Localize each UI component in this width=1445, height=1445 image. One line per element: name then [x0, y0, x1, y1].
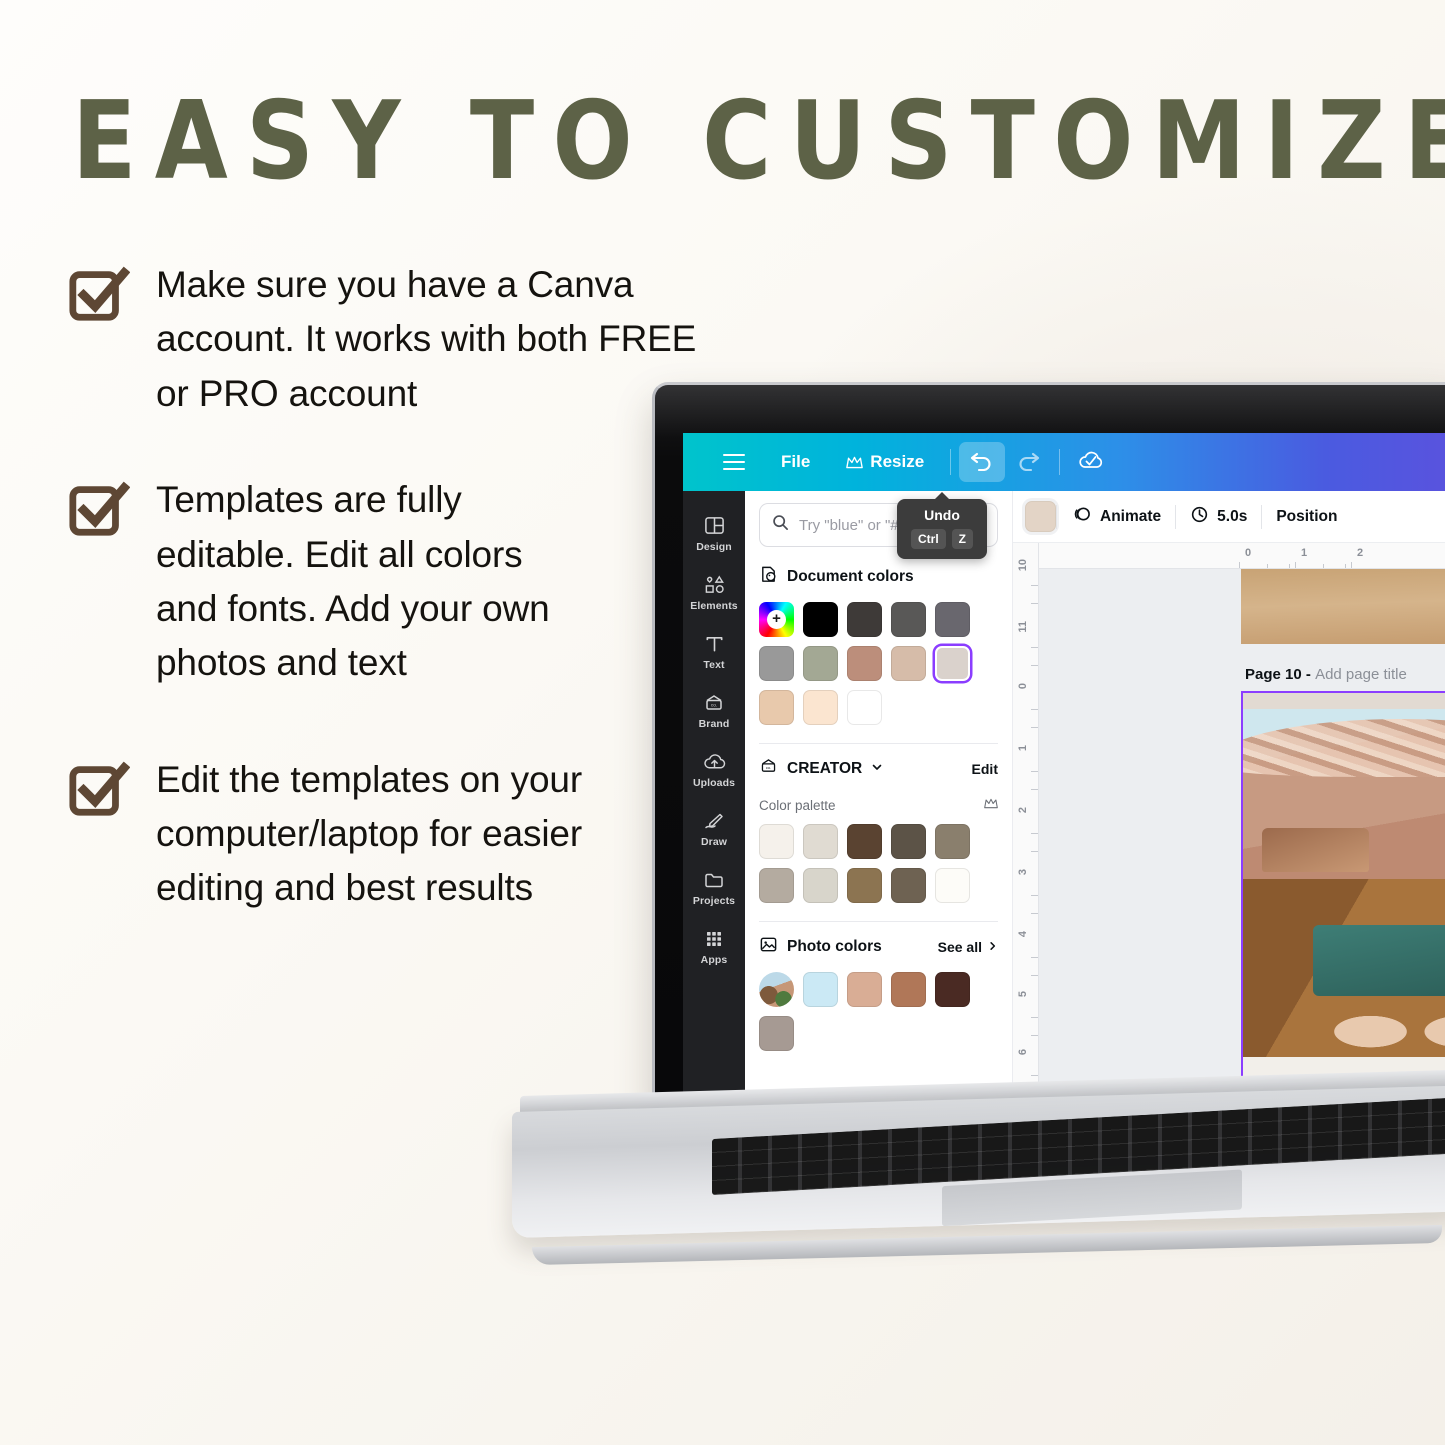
- canvas-page: Page 10 - Add page title: [1241, 569, 1445, 1093]
- page-title: EASY TO CUSTOMIZE: [72, 88, 1362, 196]
- toolbar-divider: [1059, 449, 1060, 475]
- layout-icon: [703, 514, 726, 537]
- plus-icon: +: [767, 610, 786, 629]
- crown-icon: [846, 456, 863, 469]
- page-canvas[interactable]: [1241, 691, 1445, 1093]
- sidebar-item-label: Draw: [701, 836, 727, 848]
- creator-title: CREATOR: [787, 760, 862, 778]
- color-swatch[interactable]: [803, 646, 838, 681]
- document-colors-header: Document colors: [759, 565, 998, 589]
- creator-edit-button[interactable]: Edit: [972, 761, 998, 777]
- horizontal-ruler[interactable]: 0 1 2: [1039, 543, 1445, 569]
- checkbox-checked-icon: [68, 264, 130, 326]
- sidebar-item-design[interactable]: Design: [683, 503, 745, 562]
- ruler-tick-label: 1: [1301, 547, 1307, 559]
- cloud-check-icon: [1078, 449, 1104, 476]
- selected-color-button[interactable]: [1025, 501, 1056, 532]
- add-color-button[interactable]: +: [759, 602, 794, 637]
- sidebar-item-label: Uploads: [693, 777, 735, 789]
- document-colors-title: Document colors: [787, 568, 914, 586]
- search-icon: [772, 514, 789, 536]
- color-swatch[interactable]: [803, 868, 838, 903]
- resize-label: Resize: [870, 452, 924, 472]
- photo-colors-see-all-button[interactable]: See all: [938, 939, 998, 955]
- chevron-down-icon[interactable]: [871, 760, 883, 778]
- shortcut-key: Z: [952, 529, 973, 549]
- hamburger-menu-icon: [723, 454, 745, 470]
- checkbox-checked-icon: [68, 759, 130, 821]
- laptop-base: [512, 1096, 1445, 1248]
- canvas-toolbar: Animate 5.0s Position: [1013, 491, 1445, 543]
- pencil-draw-icon: [703, 809, 726, 832]
- creator-header: co. CREATOR Edit: [759, 757, 998, 780]
- brand-card-icon: co.: [759, 757, 778, 780]
- animate-button[interactable]: Animate: [1057, 505, 1175, 529]
- sidebar-item-brand[interactable]: co. Brand: [683, 680, 745, 739]
- color-swatch[interactable]: [935, 602, 970, 637]
- sidebar-item-text[interactable]: Text: [683, 621, 745, 680]
- see-all-label: See all: [938, 939, 982, 955]
- color-swatch[interactable]: [847, 690, 882, 725]
- poster-background: EASY TO CUSTOMIZE Make sure you have a C…: [0, 0, 1445, 1445]
- animate-label: Animate: [1100, 508, 1161, 526]
- sidebar-item-label: Text: [703, 659, 724, 671]
- sidebar-item-label: Design: [696, 541, 732, 553]
- canva-sidebar: Design Elements Text: [683, 491, 745, 1093]
- color-swatch[interactable]: [891, 972, 926, 1007]
- undo-tooltip: Undo Ctrl Z: [897, 499, 987, 559]
- color-swatch[interactable]: [935, 868, 970, 903]
- duration-label: 5.0s: [1217, 508, 1247, 526]
- resize-button[interactable]: Resize: [828, 452, 942, 472]
- ruler-tick-label: 0: [1245, 547, 1251, 559]
- color-swatch[interactable]: [759, 868, 794, 903]
- ruler-tick-label: 2: [1017, 807, 1029, 813]
- position-button[interactable]: Position: [1262, 508, 1351, 526]
- page-name: Page 10: [1245, 666, 1302, 683]
- sidebar-item-label: Elements: [690, 600, 738, 612]
- image-icon: [759, 935, 778, 959]
- undo-button[interactable]: [959, 442, 1005, 482]
- color-swatch[interactable]: [935, 972, 970, 1007]
- canva-app-screen: File Resize: [683, 433, 1445, 1093]
- sidebar-item-label: Apps: [701, 954, 728, 966]
- color-swatch[interactable]: [759, 690, 794, 725]
- color-swatch[interactable]: [759, 824, 794, 859]
- color-swatch[interactable]: [759, 646, 794, 681]
- position-label: Position: [1276, 508, 1337, 526]
- grid-dots-icon: [703, 927, 726, 950]
- vertical-ruler[interactable]: 10 11 0 1 2 3: [1013, 543, 1039, 1093]
- svg-text:co.: co.: [711, 702, 717, 707]
- creator-palette-swatches: [759, 824, 998, 903]
- color-swatch-selected[interactable]: [935, 646, 970, 681]
- hamburger-menu-button[interactable]: [705, 454, 763, 470]
- color-swatch[interactable]: [891, 602, 926, 637]
- ruler-tick-label: 4: [1017, 931, 1029, 937]
- color-swatch[interactable]: [935, 824, 970, 859]
- color-swatch[interactable]: [847, 972, 882, 1007]
- canva-body: Design Elements Text: [683, 491, 1445, 1093]
- color-swatch[interactable]: [847, 602, 882, 637]
- file-menu-label: File: [781, 452, 810, 472]
- color-swatch[interactable]: [891, 868, 926, 903]
- color-swatch[interactable]: [847, 646, 882, 681]
- sidebar-item-projects[interactable]: Projects: [683, 857, 745, 916]
- photo-typewriter[interactable]: [1243, 879, 1445, 1057]
- panel-divider: [759, 743, 998, 744]
- crown-icon: [984, 796, 998, 814]
- checkbox-checked-icon: [68, 479, 130, 541]
- shortcut-key: Ctrl: [911, 529, 946, 549]
- page-band: [1243, 693, 1445, 709]
- ruler-tick-label: 2: [1357, 547, 1363, 559]
- document-palette-icon: [759, 565, 778, 589]
- text-t-icon: [703, 632, 726, 655]
- color-swatch[interactable]: [803, 824, 838, 859]
- color-swatch[interactable]: [803, 602, 838, 637]
- add-page-title-label: Add page title: [1315, 666, 1407, 683]
- clock-icon: [1190, 505, 1209, 529]
- color-swatch[interactable]: [847, 868, 882, 903]
- sidebar-item-apps[interactable]: Apps: [683, 916, 745, 975]
- previous-page-thumbnail[interactable]: [1241, 569, 1445, 644]
- animate-icon: [1071, 505, 1092, 529]
- file-menu-button[interactable]: File: [763, 452, 828, 472]
- page-separator: -: [1306, 666, 1311, 683]
- toolbar-divider: [950, 449, 951, 475]
- laptop-deck: [512, 1085, 1445, 1238]
- ruler-tick-label: 6: [1017, 1049, 1029, 1055]
- ruler-tick-label: 11: [1017, 621, 1029, 633]
- sidebar-item-uploads[interactable]: Uploads: [683, 739, 745, 798]
- sidebar-item-elements[interactable]: Elements: [683, 562, 745, 621]
- color-swatch[interactable]: [891, 646, 926, 681]
- page-label[interactable]: Page 10 - Add page title: [1241, 666, 1445, 683]
- duration-button[interactable]: 5.0s: [1176, 505, 1261, 529]
- color-swatch[interactable]: [759, 1016, 794, 1051]
- ruler-tick-label: 10: [1017, 559, 1029, 571]
- colors-panel: Try "blue" or "#00c4cc" Document colors …: [745, 491, 1013, 1093]
- color-swatch[interactable]: [803, 972, 838, 1007]
- redo-button[interactable]: [1005, 442, 1051, 482]
- redo-arrow-icon: [1016, 449, 1040, 476]
- tooltip-title: Undo: [911, 507, 973, 523]
- cloud-upload-icon: [703, 750, 726, 773]
- ruler-tick-label: 0: [1017, 683, 1029, 689]
- ruler-tick-label: 5: [1017, 991, 1029, 997]
- shapes-icon: [703, 573, 726, 596]
- canva-topbar: File Resize: [683, 433, 1445, 491]
- photo-hammock[interactable]: [1243, 709, 1445, 879]
- sidebar-item-label: Projects: [693, 895, 735, 907]
- color-swatch[interactable]: [803, 690, 838, 725]
- svg-text:co.: co.: [766, 765, 771, 770]
- document-colors-swatches: +: [759, 602, 998, 725]
- canvas-rulers: 10 11 0 1 2 3: [1013, 543, 1445, 1093]
- color-swatch[interactable]: [847, 824, 882, 859]
- color-palette-label: Color palette: [759, 798, 836, 813]
- photo-thumbnail[interactable]: [759, 972, 794, 1007]
- folder-icon: [703, 868, 726, 891]
- ruler-tick-label: 3: [1017, 869, 1029, 875]
- undo-arrow-icon: [970, 449, 994, 476]
- photo-colors-title: Photo colors: [787, 938, 882, 956]
- chevron-right-icon: [987, 939, 998, 955]
- ruler-tick-label: 1: [1017, 745, 1029, 751]
- color-palette-row: Color palette: [759, 796, 998, 814]
- sidebar-item-label: Brand: [699, 718, 730, 730]
- cloud-save-button[interactable]: [1068, 442, 1114, 482]
- canvas-area: Animate 5.0s Position: [1013, 491, 1445, 1093]
- color-swatch[interactable]: [891, 824, 926, 859]
- brand-card-icon: co.: [703, 691, 726, 714]
- photo-colors-swatches: [759, 972, 998, 1051]
- tooltip-shortcut: Ctrl Z: [911, 529, 973, 549]
- laptop-mockup: File Resize: [512, 382, 1445, 1287]
- sidebar-item-draw[interactable]: Draw: [683, 798, 745, 857]
- laptop-lid: File Resize: [652, 382, 1445, 1112]
- photo-colors-header: Photo colors See all: [759, 935, 998, 959]
- panel-divider: [759, 921, 998, 922]
